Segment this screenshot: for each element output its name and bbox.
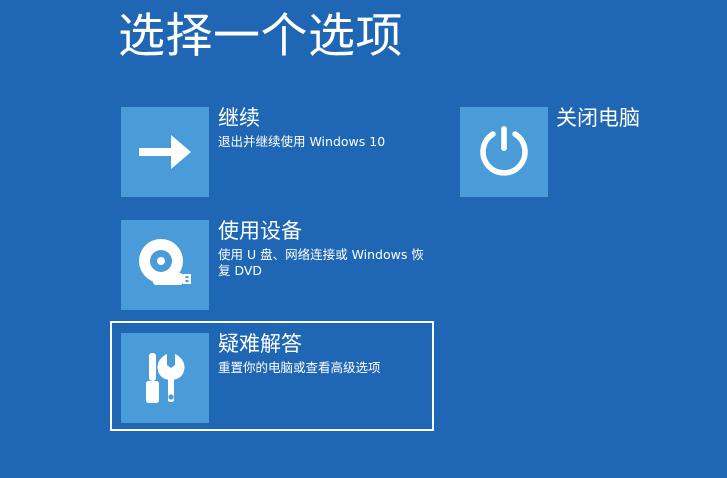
option-troubleshoot-subtitle: 重置你的电脑或查看高级选项 — [218, 360, 433, 376]
option-continue-title: 继续 — [218, 105, 433, 132]
disc-usb-device-icon — [137, 239, 193, 291]
option-troubleshoot-labels: 疑难解答 重置你的电脑或查看高级选项 — [218, 331, 433, 376]
option-continue-subtitle: 退出并继续使用 Windows 10 — [218, 134, 433, 150]
option-turn-off-pc-title: 关闭电脑 — [556, 105, 726, 132]
option-troubleshoot[interactable]: 疑难解答 重置你的电脑或查看高级选项 — [121, 333, 441, 423]
option-troubleshoot-title: 疑难解答 — [218, 331, 433, 358]
option-use-device-title: 使用设备 — [218, 218, 436, 245]
option-use-device-subtitle: 使用 U 盘、网络连接或 Windows 恢复 DVD — [218, 247, 436, 279]
recovery-options-screen: 选择一个选项 继续 退出并继续使用 Windows 10 使 — [0, 0, 727, 478]
option-use-device-tile[interactable] — [121, 220, 209, 310]
option-use-device[interactable]: 使用设备 使用 U 盘、网络连接或 Windows 恢复 DVD — [121, 220, 441, 310]
option-use-device-labels: 使用设备 使用 U 盘、网络连接或 Windows 恢复 DVD — [218, 218, 436, 279]
option-continue-labels: 继续 退出并继续使用 Windows 10 — [218, 105, 433, 150]
page-title: 选择一个选项 — [118, 8, 403, 66]
option-continue[interactable]: 继续 退出并继续使用 Windows 10 — [121, 107, 441, 197]
option-turn-off-pc-tile[interactable] — [460, 107, 548, 197]
power-icon — [477, 124, 531, 180]
option-turn-off-pc-labels: 关闭电脑 — [556, 105, 726, 132]
screwdriver-wrench-icon — [141, 351, 189, 405]
option-turn-off-pc[interactable]: 关闭电脑 — [460, 107, 720, 197]
arrow-right-icon — [139, 131, 191, 173]
option-continue-tile[interactable] — [121, 107, 209, 197]
option-troubleshoot-tile[interactable] — [121, 333, 209, 423]
